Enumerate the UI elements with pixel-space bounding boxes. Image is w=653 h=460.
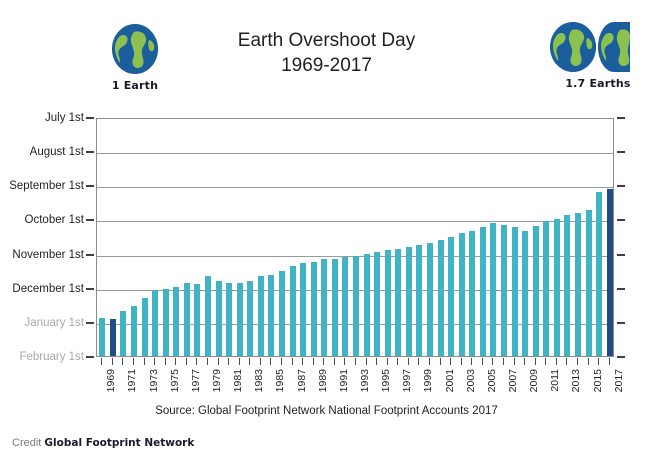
source-note: Source: Global Footprint Network Nationa… — [0, 405, 653, 417]
x-axis-tick — [154, 358, 155, 365]
x-axis-label: 2007 — [507, 369, 519, 392]
x-axis-tick — [133, 358, 134, 365]
x-axis-label: 1975 — [169, 369, 181, 392]
x-axis-tick — [112, 358, 113, 365]
x-axis-tick — [609, 358, 610, 365]
x-axis-tick — [165, 358, 166, 365]
x-axis-tick — [239, 358, 240, 365]
x-axis-tick — [514, 358, 515, 365]
x-axis-tick — [471, 358, 472, 365]
x-axis-tick — [397, 358, 398, 365]
x-axis-tick — [503, 358, 504, 365]
x-axis-tick — [366, 358, 367, 365]
x-axis-label: 1979 — [211, 369, 223, 392]
x-axis-label: 2017 — [613, 369, 625, 392]
x-axis-tick — [355, 358, 356, 365]
credit-name: Global Footprint Network — [44, 437, 194, 449]
x-axis-tick — [175, 358, 176, 365]
x-axis-tick — [270, 358, 271, 365]
x-axis-tick — [598, 358, 599, 365]
x-axis-tick — [196, 358, 197, 365]
x-axis-tick — [450, 358, 451, 365]
x-axis-tick — [524, 358, 525, 365]
x-axis-label: 1999 — [422, 369, 434, 392]
x-axis-tick — [186, 358, 187, 365]
x-axis-tick — [334, 358, 335, 365]
x-axis-label: 1981 — [232, 369, 244, 392]
x-axis-label: 1977 — [190, 369, 202, 392]
x-axis-tick — [418, 358, 419, 365]
x-axis-tick — [440, 358, 441, 365]
chart-body: July 1stAugust 1stSeptember 1stOctober 1… — [0, 0, 653, 460]
x-axis-tick — [101, 358, 102, 365]
x-axis-tick — [249, 358, 250, 365]
x-axis-tick — [260, 358, 261, 365]
x-axis-label: 2011 — [549, 369, 561, 392]
x-axis-label: 2003 — [465, 369, 477, 392]
x-axis-label: 2001 — [444, 369, 456, 392]
x-axis-label: 1983 — [253, 369, 265, 392]
x-axis-tick — [429, 358, 430, 365]
x-axis-tick — [461, 358, 462, 365]
x-axis-tick — [228, 358, 229, 365]
x-axis-tick — [387, 358, 388, 365]
x-axis-tick — [376, 358, 377, 365]
x-axis-tick — [218, 358, 219, 365]
x-axis-label: 1997 — [401, 369, 413, 392]
x-axis-label: 1973 — [148, 369, 160, 392]
x-axis-label: 1987 — [296, 369, 308, 392]
x-axis-tick — [408, 358, 409, 365]
x-axis-tick — [344, 358, 345, 365]
x-axis-tick — [323, 358, 324, 365]
x-axis-tick — [492, 358, 493, 365]
x-axis-tick — [566, 358, 567, 365]
x-axis-tick — [556, 358, 557, 365]
x-axis-label: 1995 — [380, 369, 392, 392]
x-axis-tick — [122, 358, 123, 365]
x-axis-tick — [302, 358, 303, 365]
x-axis-label: 1989 — [317, 369, 329, 392]
x-axis-label: 2005 — [486, 369, 498, 392]
x-axis-label: 2009 — [528, 369, 540, 392]
x-axis-tick — [292, 358, 293, 365]
x-axis-label: 1993 — [359, 369, 371, 392]
x-axis-label: 1991 — [338, 369, 350, 392]
credit-word: Credit — [12, 437, 41, 449]
x-axis-tick — [281, 358, 282, 365]
x-axis-tick — [144, 358, 145, 365]
x-axis-tick — [588, 358, 589, 365]
x-axis: 1969197119731975197719791981198319851987… — [0, 0, 653, 460]
x-axis-label: 1985 — [274, 369, 286, 392]
x-axis-tick — [577, 358, 578, 365]
x-axis-tick — [545, 358, 546, 365]
x-axis-label: 1969 — [105, 369, 117, 392]
x-axis-label: 2015 — [592, 369, 604, 392]
x-axis-tick — [482, 358, 483, 365]
credit-line: Credit Global Footprint Network — [12, 437, 194, 449]
x-axis-tick — [535, 358, 536, 365]
x-axis-label: 1971 — [126, 369, 138, 392]
x-axis-tick — [313, 358, 314, 365]
x-axis-tick — [207, 358, 208, 365]
x-axis-label: 2013 — [570, 369, 582, 392]
